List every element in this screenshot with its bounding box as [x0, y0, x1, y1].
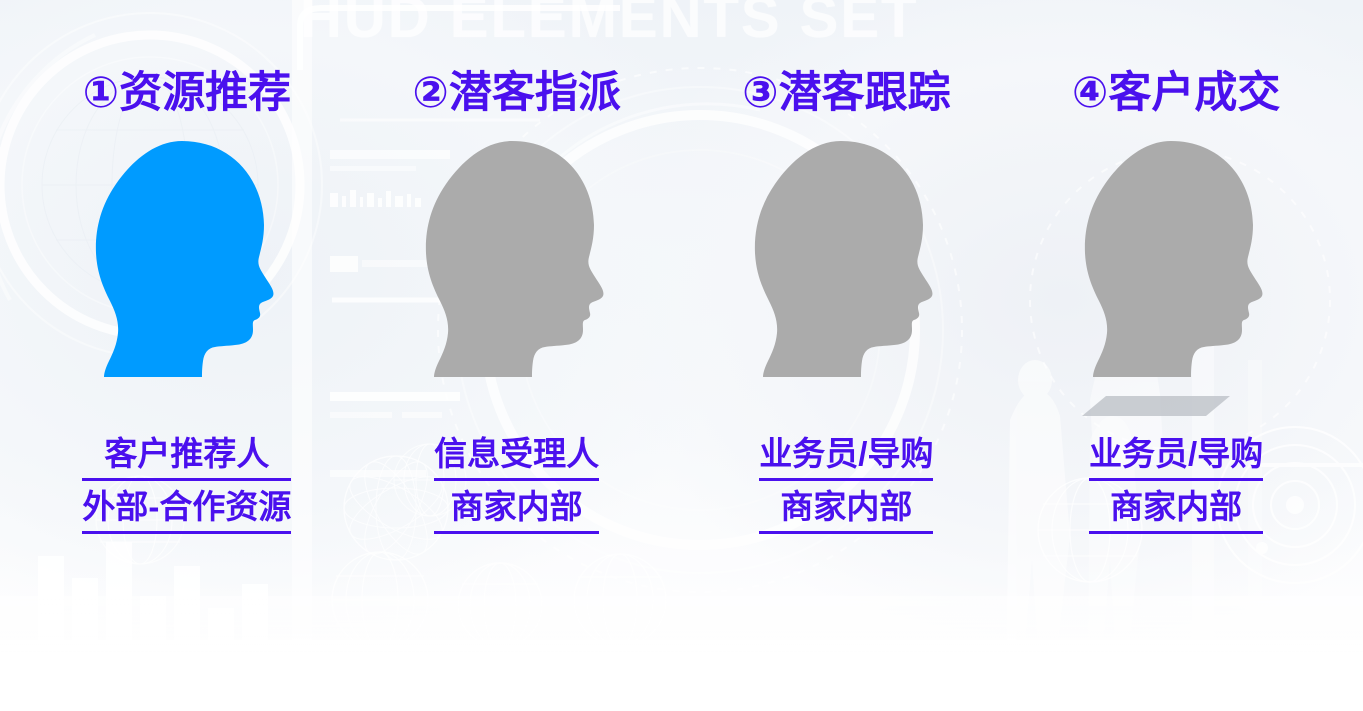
head-profile-icon [746, 139, 946, 379]
process-step-3[interactable]: ③潜客跟踪 业务员/导购 商家内部 [682, 0, 1012, 711]
process-columns: ①资源推荐 客户推荐人 外部-合作资源 ②潜客指派 信息受理人 商家内部 [0, 0, 1363, 711]
head-profile-icon-2 [417, 139, 617, 379]
step-caption-4: 业务员/导购 商家内部 [1089, 433, 1263, 534]
step-caption-1: 客户推荐人 外部-合作资源 [82, 433, 291, 534]
step-title-3: ③潜客跟踪 [742, 72, 950, 115]
caption-line: 信息受理人 [434, 433, 599, 481]
caption-line: 业务员/导购 [1089, 433, 1263, 481]
step-caption-2: 信息受理人 商家内部 [434, 433, 599, 534]
step-title-4: ④客户成交 [1072, 72, 1280, 115]
caption-line: 商家内部 [434, 486, 599, 534]
process-step-2[interactable]: ②潜客指派 信息受理人 商家内部 [352, 0, 682, 711]
head-profile-icon [417, 139, 617, 379]
caption-line: 商家内部 [759, 486, 933, 534]
head-profile-icon [1076, 139, 1276, 379]
caption-line: 业务员/导购 [759, 433, 933, 481]
process-step-1[interactable]: ①资源推荐 客户推荐人 外部-合作资源 [22, 0, 352, 711]
caption-line: 外部-合作资源 [82, 486, 291, 534]
step-title-1: ①资源推荐 [83, 72, 291, 115]
caption-line: 客户推荐人 [82, 433, 291, 481]
step-title-2: ②潜客指派 [412, 72, 620, 115]
head-profile-icon-3 [746, 139, 946, 379]
head-profile-icon-1 [87, 139, 287, 379]
slide-canvas: HUD ELEMENTS SET ①资源推荐 客户推荐人 外部-合作资源 ②潜客… [0, 0, 1363, 711]
process-step-4[interactable]: ④客户成交 业务员/导购 商家内部 [1011, 0, 1341, 711]
caption-line: 商家内部 [1089, 486, 1263, 534]
head-profile-icon-4 [1076, 139, 1276, 379]
step-caption-3: 业务员/导购 商家内部 [759, 433, 933, 534]
head-profile-icon [87, 139, 287, 379]
